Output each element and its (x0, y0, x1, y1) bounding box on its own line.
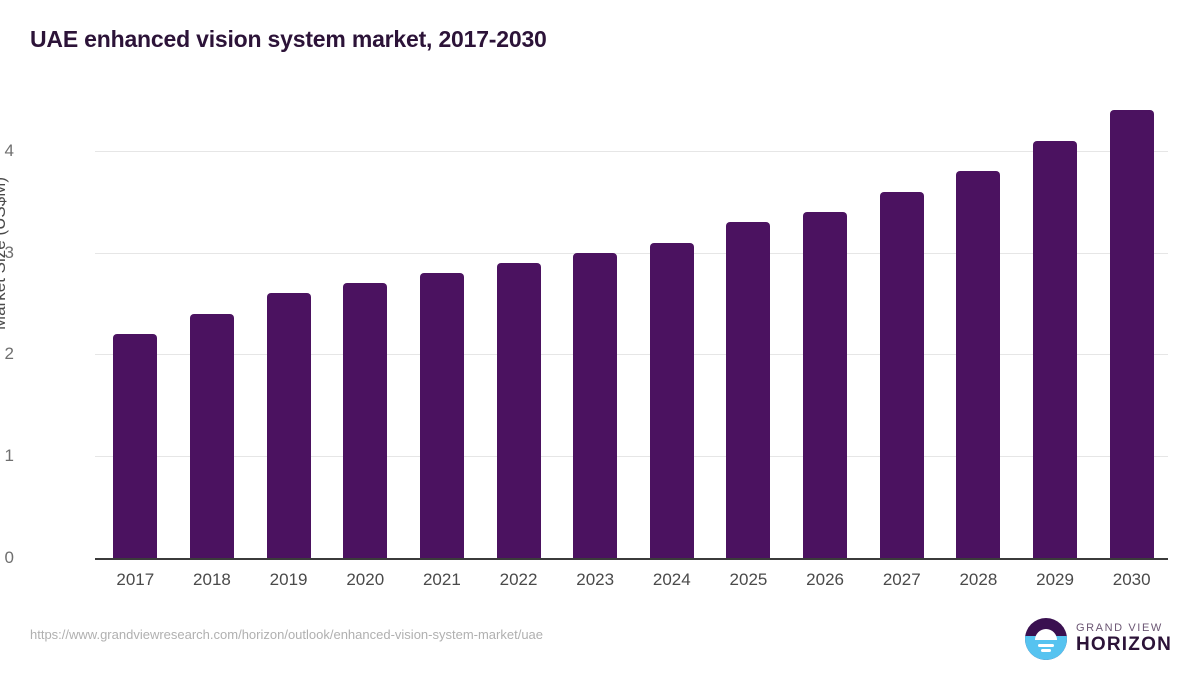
bar-2028[interactable] (956, 171, 1000, 558)
logo-ray-2 (1041, 649, 1051, 652)
y-axis-tick-label: 0 (0, 548, 14, 568)
bar-2019[interactable] (267, 293, 311, 558)
x-axis-tick-label: 2026 (787, 570, 863, 590)
x-axis-tick-label: 2017 (97, 570, 173, 590)
x-axis-tick-label: 2024 (634, 570, 710, 590)
bar-2027[interactable] (880, 192, 924, 558)
chart-plot-area: Market Size (US$M) 201720182019202020212… (0, 0, 1200, 675)
bar-2029[interactable] (1033, 141, 1077, 558)
bar-2017[interactable] (113, 334, 157, 558)
chart-card: UAE enhanced vision system market, 2017-… (0, 0, 1200, 675)
logo-ray-1 (1038, 644, 1054, 647)
bar-2024[interactable] (650, 243, 694, 559)
horizon-sun-icon (1025, 618, 1067, 660)
x-axis-tick-label: 2030 (1094, 570, 1170, 590)
grand-view-horizon-logo: GRAND VIEW HORIZON (1025, 618, 1172, 660)
x-axis-tick-label: 2022 (481, 570, 557, 590)
y-axis-tick-label: 4 (0, 141, 14, 161)
x-axis-tick-label: 2020 (327, 570, 403, 590)
y-axis-tick-label: 3 (0, 243, 14, 263)
plot-region: 2017201820192020202120222023202420252026… (95, 100, 1168, 558)
bar-2030[interactable] (1110, 110, 1154, 558)
logo-dome-shape (1035, 629, 1057, 640)
x-axis-tick-label: 2019 (251, 570, 327, 590)
bar-2022[interactable] (497, 263, 541, 558)
bar-2023[interactable] (573, 253, 617, 558)
bar-series (95, 100, 1168, 558)
bar-2020[interactable] (343, 283, 387, 558)
logo-wordmark: GRAND VIEW HORIZON (1076, 623, 1172, 654)
x-axis-tick-label: 2021 (404, 570, 480, 590)
x-axis-tick-label: 2028 (940, 570, 1016, 590)
x-axis-line (95, 558, 1168, 560)
bar-2018[interactable] (190, 314, 234, 558)
logo-bottom-text: HORIZON (1076, 635, 1172, 655)
y-axis-tick-label: 1 (0, 446, 14, 466)
bar-2026[interactable] (803, 212, 847, 558)
x-axis-tick-label: 2027 (864, 570, 940, 590)
bar-2025[interactable] (726, 222, 770, 558)
source-url: https://www.grandviewresearch.com/horizo… (30, 627, 543, 642)
y-axis-tick-label: 2 (0, 344, 14, 364)
bar-2021[interactable] (420, 273, 464, 558)
x-axis-tick-label: 2025 (710, 570, 786, 590)
x-axis-tick-label: 2018 (174, 570, 250, 590)
x-axis-tick-label: 2029 (1017, 570, 1093, 590)
x-axis-tick-label: 2023 (557, 570, 633, 590)
